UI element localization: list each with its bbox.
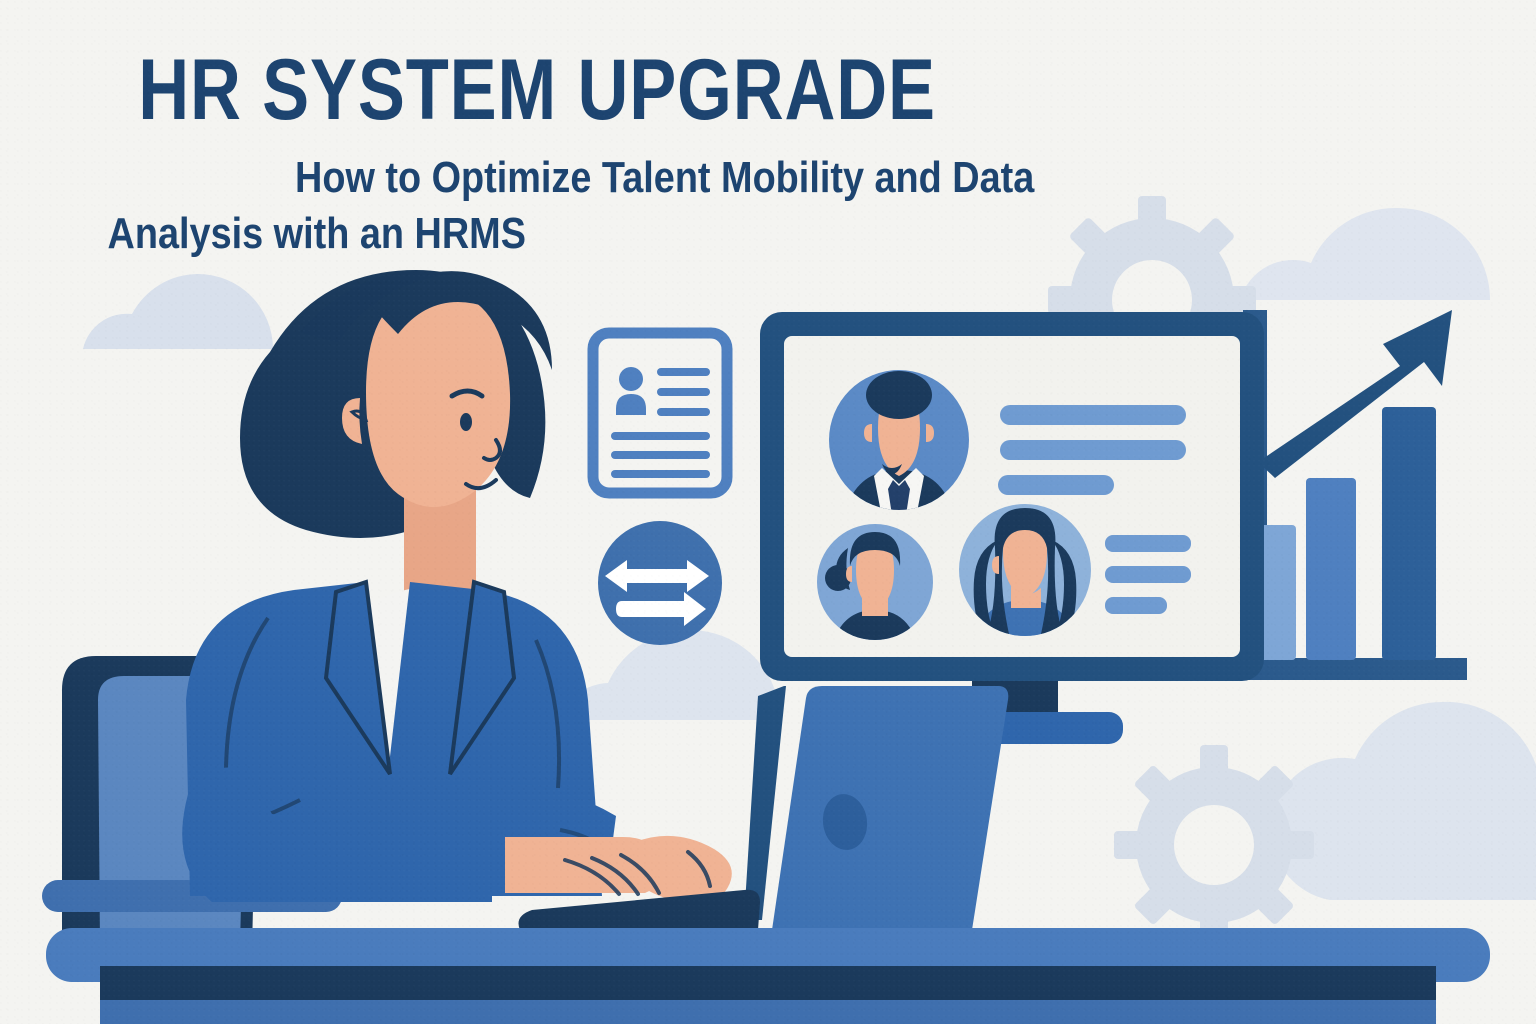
laptop-lid: [772, 686, 1008, 930]
chart-bar-2: [1306, 478, 1356, 660]
page-subtitle-line1: How to Optimize Talent Mobility and Data: [295, 150, 1241, 206]
page-title: HR SYSTEM UPGRADE: [138, 44, 1398, 136]
page-subtitle-line2: Analysis with an HRMS: [108, 206, 1429, 262]
desk-edge: [100, 966, 1436, 1002]
transfer-arrows-icon: [598, 521, 722, 645]
illustration-canvas: HR SYSTEM UPGRADE How to Optimize Talent…: [0, 0, 1536, 1024]
desktop-monitor: [760, 312, 1264, 744]
header-block: HR SYSTEM UPGRADE: [0, 44, 1536, 136]
subtitle-block: How to Optimize Talent Mobility and Data…: [0, 150, 1536, 262]
eye: [460, 413, 472, 431]
desk: [46, 928, 1490, 1024]
gear-bottom-right: [1114, 745, 1314, 945]
desk-front: [100, 1000, 1436, 1024]
chart-bar-3: [1382, 407, 1436, 660]
